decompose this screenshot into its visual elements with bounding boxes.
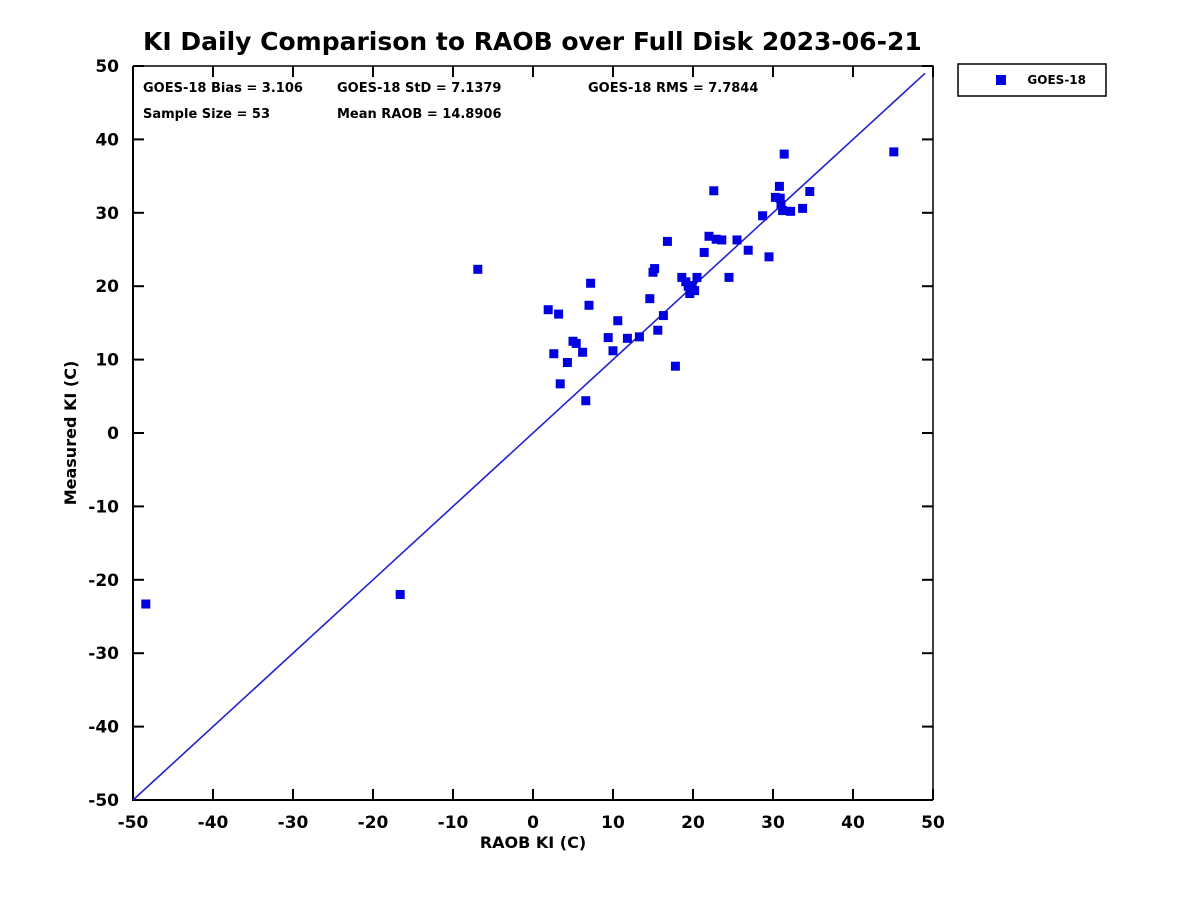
y-tick-label: -40 <box>88 718 119 738</box>
x-tick-label: 10 <box>601 813 625 833</box>
data-point <box>709 186 718 195</box>
data-point <box>635 332 644 341</box>
y-tick-label: -50 <box>88 791 119 811</box>
data-point <box>585 301 594 310</box>
legend-label-goes-18: GOES-18 <box>1027 73 1086 87</box>
data-point <box>578 348 587 357</box>
data-point <box>671 362 680 371</box>
data-point <box>549 349 558 358</box>
data-point <box>805 187 814 196</box>
data-point <box>693 273 702 282</box>
data-point <box>554 310 563 319</box>
statistics-annotations: GOES-18 Bias = 3.106GOES-18 StD = 7.1379… <box>143 81 758 122</box>
data-point <box>775 182 784 191</box>
stat-mean-raob: Mean RAOB = 14.8906 <box>337 107 502 122</box>
legend-marker-goes-18 <box>996 75 1006 85</box>
x-tick-label: -40 <box>198 813 229 833</box>
data-point <box>889 147 898 156</box>
y-axis-ticks: -50-40-30-20-1001020304050 <box>88 57 933 811</box>
legend[interactable]: GOES-18 <box>958 64 1106 96</box>
x-tick-label: 40 <box>841 813 865 833</box>
stat-sample-size: Sample Size = 53 <box>143 107 270 122</box>
x-tick-label: 0 <box>527 813 539 833</box>
y-tick-label: -10 <box>88 497 119 517</box>
y-tick-label: 10 <box>95 351 119 371</box>
y-tick-label: 30 <box>95 204 119 224</box>
data-point <box>604 333 613 342</box>
data-point <box>581 396 590 405</box>
x-tick-label: -20 <box>358 813 389 833</box>
data-point <box>556 379 565 388</box>
one-to-one-reference-line <box>133 73 925 800</box>
data-point <box>544 305 553 314</box>
y-tick-label: 40 <box>95 130 119 150</box>
data-point <box>623 334 632 343</box>
data-point <box>609 346 618 355</box>
data-point <box>663 237 672 246</box>
stat-std: GOES-18 StD = 7.1379 <box>337 81 501 96</box>
data-point <box>653 326 662 335</box>
data-point <box>569 337 578 346</box>
y-tick-label: 20 <box>95 277 119 297</box>
x-tick-label: -50 <box>118 813 149 833</box>
data-point <box>690 286 699 295</box>
x-tick-label: 30 <box>761 813 785 833</box>
data-point <box>798 204 807 213</box>
data-point <box>141 600 150 609</box>
x-axis-title: RAOB KI (C) <box>480 833 586 852</box>
x-tick-label: 50 <box>921 813 945 833</box>
data-point <box>786 207 795 216</box>
data-point <box>733 235 742 244</box>
scatter-plot-canvas: KI Daily Comparison to RAOB over Full Di… <box>0 0 1200 900</box>
data-point <box>744 246 753 255</box>
data-point <box>586 279 595 288</box>
data-point <box>649 268 658 277</box>
data-point <box>659 311 668 320</box>
data-point <box>700 248 709 257</box>
data-point <box>778 206 787 215</box>
data-point <box>473 265 482 274</box>
data-point <box>765 252 774 261</box>
one-to-one-line <box>133 73 925 800</box>
data-point <box>758 211 767 220</box>
chart-title: KI Daily Comparison to RAOB over Full Di… <box>143 27 922 56</box>
data-point <box>645 294 654 303</box>
data-point <box>725 273 734 282</box>
data-point <box>563 358 572 367</box>
data-point <box>780 150 789 159</box>
data-point <box>613 316 622 325</box>
x-axis-ticks: -50-40-30-20-1001020304050 <box>118 66 945 833</box>
data-point <box>717 235 726 244</box>
stat-bias: GOES-18 Bias = 3.106 <box>143 81 303 96</box>
x-tick-label: -10 <box>438 813 469 833</box>
y-tick-label: 50 <box>95 57 119 77</box>
data-point-series <box>141 147 898 608</box>
y-tick-label: -20 <box>88 571 119 591</box>
y-axis-title: Measured KI (C) <box>61 361 80 506</box>
y-tick-label: -30 <box>88 644 119 664</box>
data-point <box>396 590 405 599</box>
chart-figure: KI Daily Comparison to RAOB over Full Di… <box>0 0 1200 900</box>
x-tick-label: -30 <box>278 813 309 833</box>
stat-rms: GOES-18 RMS = 7.7844 <box>588 81 758 96</box>
y-tick-label: 0 <box>107 424 119 444</box>
x-tick-label: 20 <box>681 813 705 833</box>
